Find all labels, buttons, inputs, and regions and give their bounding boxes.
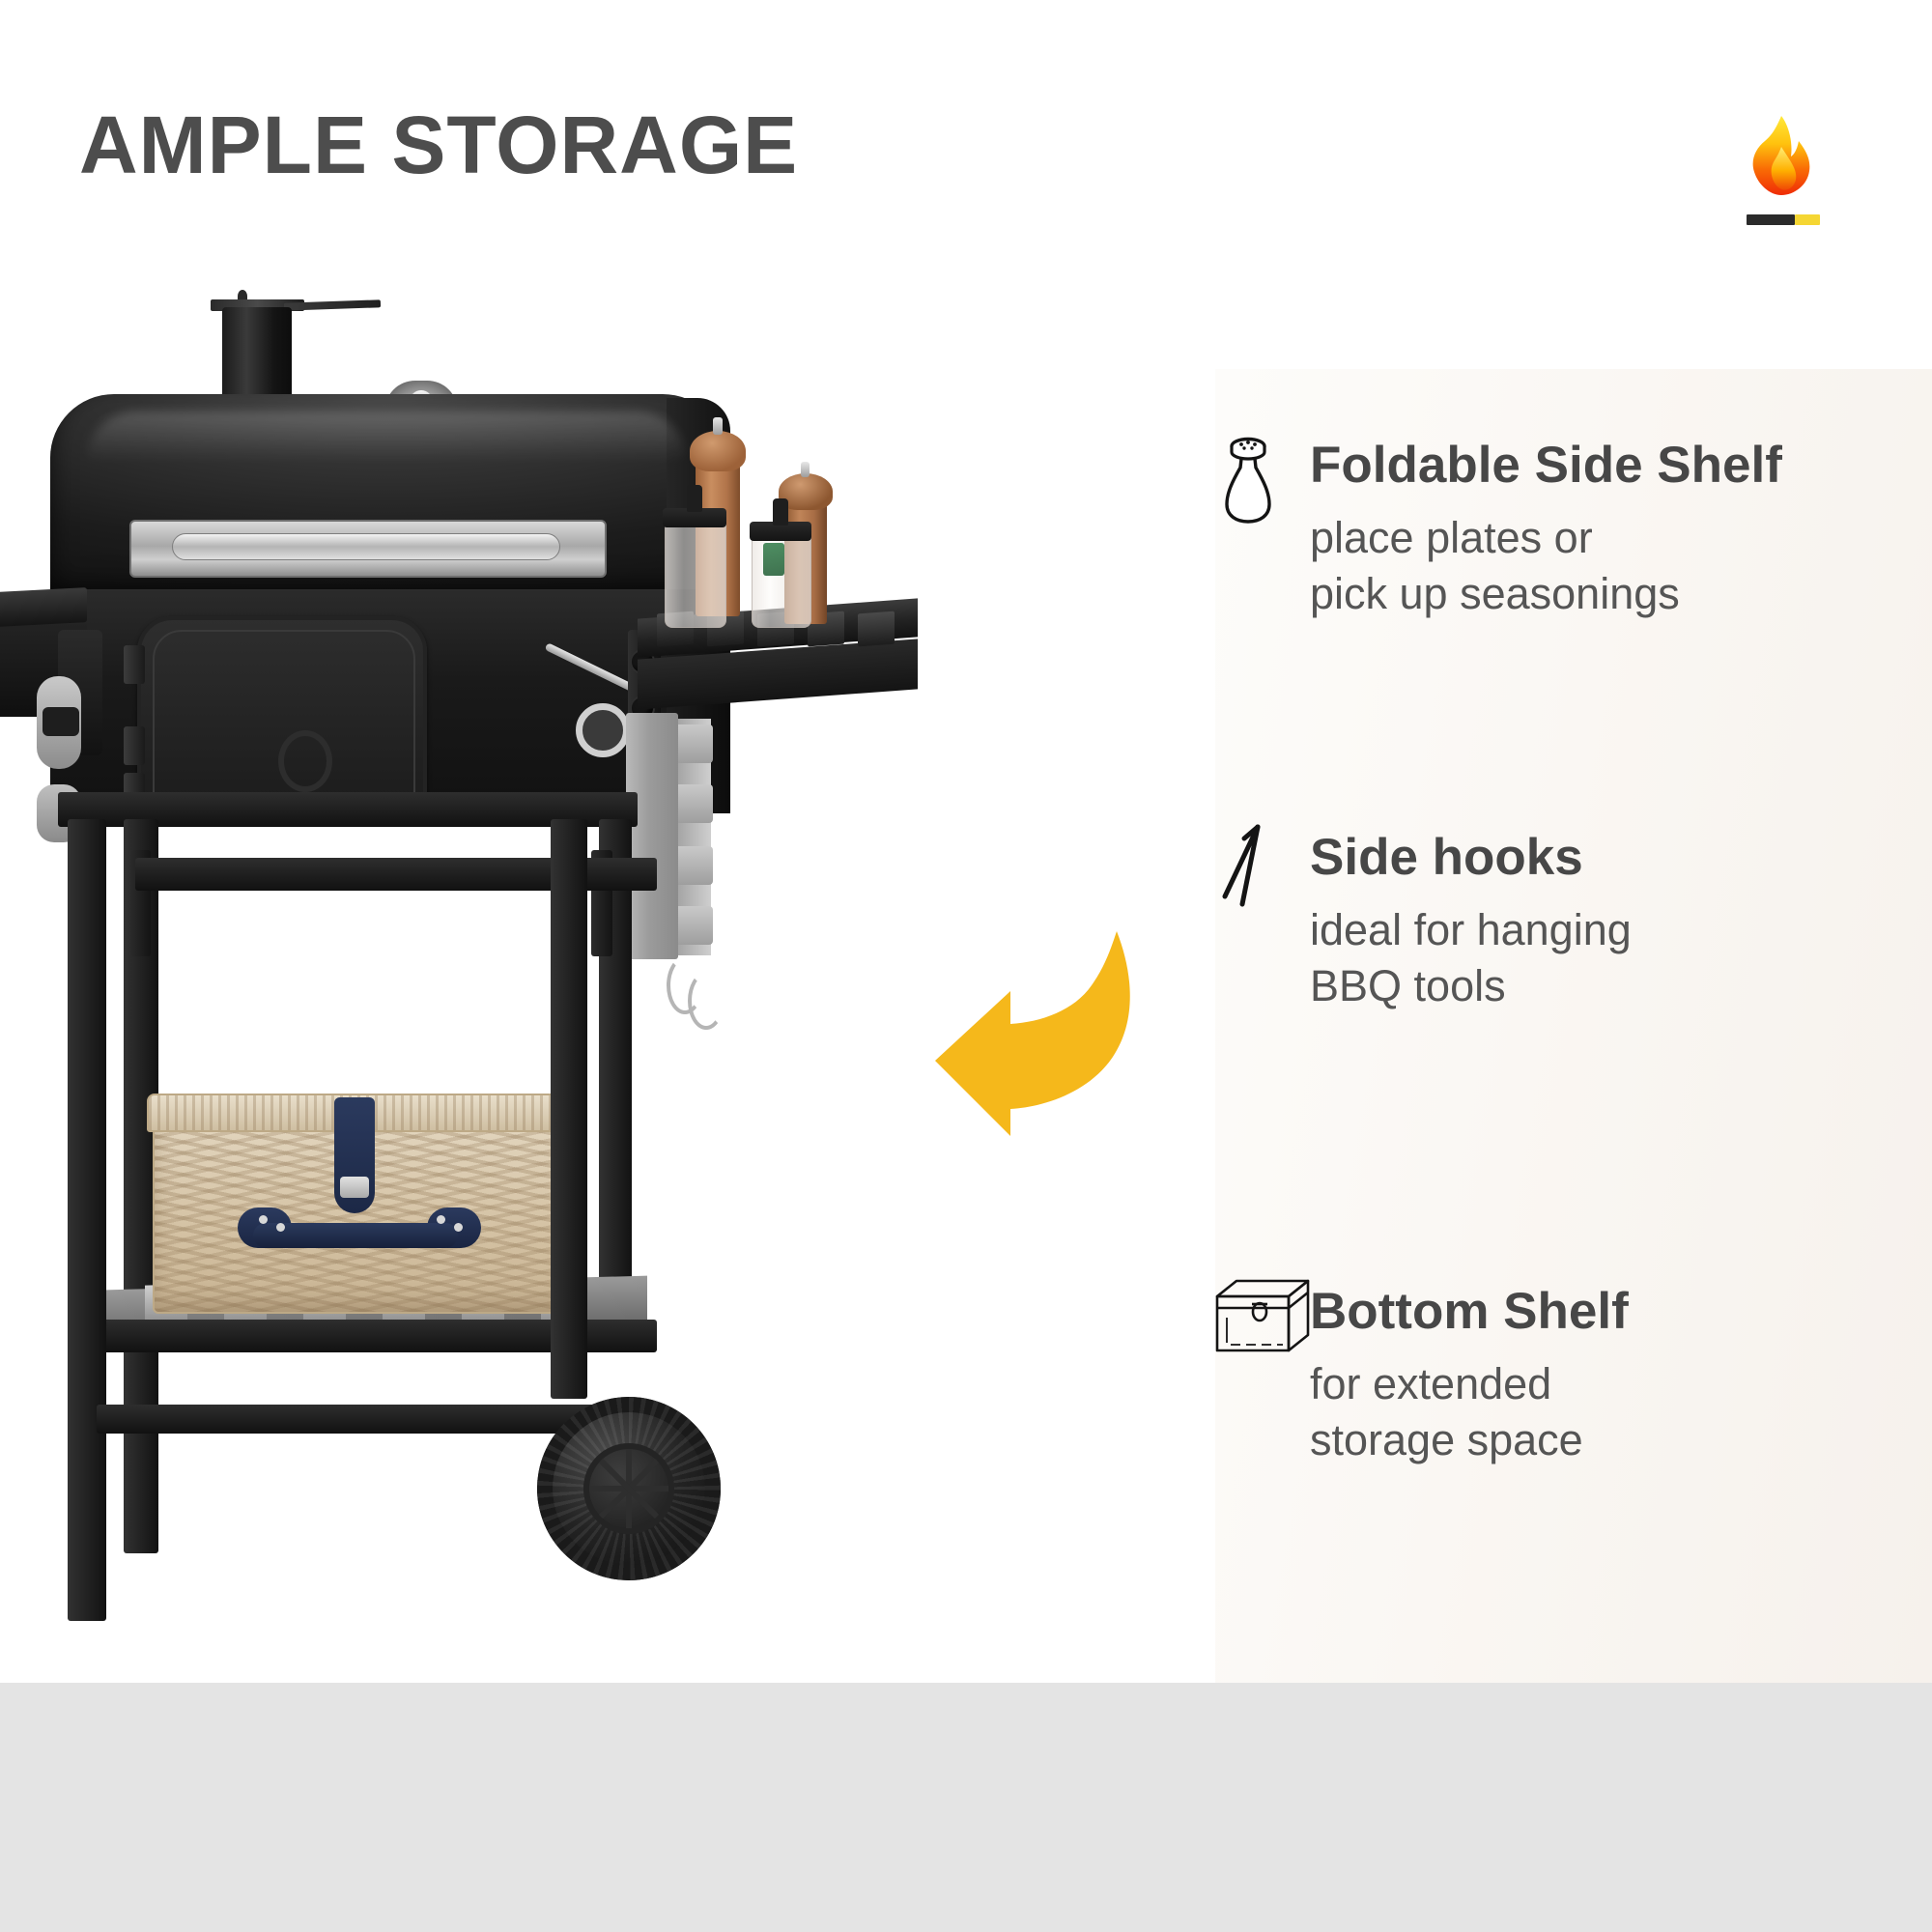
side-hook-tab: [678, 724, 713, 763]
rule-dark-segment: [1747, 214, 1795, 225]
rule-accent-segment: [1795, 214, 1820, 225]
bottom-gray-strip: [0, 1683, 1932, 1932]
spice-jar-knob: [773, 498, 788, 526]
glass-spice-jar: [665, 520, 726, 628]
side-hooks-panel: [626, 713, 678, 959]
ash-door-ring-handle: [278, 730, 332, 792]
lid-handle: [172, 533, 560, 560]
basket-rivet: [454, 1223, 463, 1232]
feature-description: place plates or pick up seasonings: [1310, 510, 1680, 621]
basket-rivet: [259, 1215, 268, 1224]
brand-rule: [1747, 214, 1820, 225]
basket-rivet: [437, 1215, 445, 1224]
product-image-bbq-grill: [0, 290, 976, 1690]
height-adjust-crank-wheel: [576, 703, 630, 757]
spice-jar-knob: [687, 485, 702, 512]
infographic-canvas: AMPLE STORAGE: [0, 0, 1932, 1932]
side-shelf-slat: [858, 611, 895, 647]
cart-leg-front-right: [551, 819, 587, 1399]
side-latch-lever: [43, 707, 79, 736]
feature-title: Bottom Shelf: [1310, 1285, 1629, 1339]
side-hook-tab: [678, 906, 713, 945]
pepper-mill-cap: [690, 431, 746, 471]
curved-left-arrow-icon: [927, 916, 1198, 1138]
brandmark: [1729, 114, 1874, 249]
side-hook-tab: [678, 784, 713, 823]
lid-highlight: [87, 412, 686, 462]
feature-list-panel: Foldable Side Shelf place plates or pick…: [1215, 369, 1932, 1683]
ash-door-hinge: [124, 645, 145, 684]
feature-title: Side hooks: [1310, 831, 1583, 885]
feature-title: Foldable Side Shelf: [1310, 439, 1782, 493]
ash-door-hinge: [124, 726, 145, 765]
ash-door-inner-bevel: [153, 630, 415, 813]
salt-shaker-icon: [1215, 429, 1302, 526]
cart-leg-front-left: [68, 819, 106, 1621]
basket-clasp: [340, 1177, 369, 1198]
flame-icon: [1747, 114, 1816, 197]
hooks-icon: [1215, 821, 1302, 918]
feature-description: ideal for hanging BBQ tools: [1310, 902, 1632, 1013]
storage-chest-icon: [1215, 1275, 1302, 1372]
page-title: AMPLE STORAGE: [79, 104, 798, 185]
side-hook-tab: [678, 846, 713, 885]
s-hook: [688, 972, 724, 1030]
cart-foot-rail: [97, 1405, 618, 1434]
basket-rivet: [276, 1223, 285, 1232]
spice-jar-green-label: [763, 543, 784, 576]
pepper-mill-knob: [713, 417, 723, 435]
feature-description: for extended storage space: [1310, 1356, 1583, 1467]
salt-mill-knob: [801, 462, 810, 477]
